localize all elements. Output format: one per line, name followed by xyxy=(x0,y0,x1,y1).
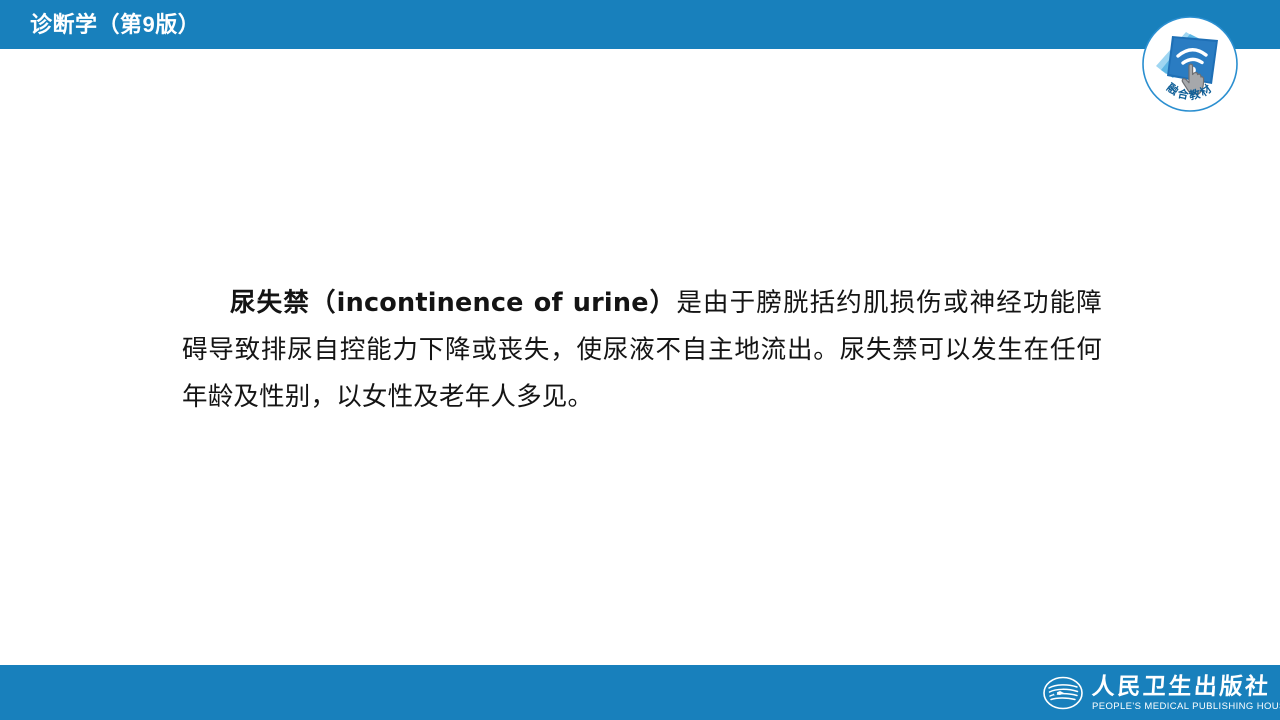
publisher-name-cn: 人民卫生出版社 xyxy=(1091,675,1280,698)
definition-paragraph: 尿失禁（incontinence of urine）是由于膀胱括约肌损伤或神经功… xyxy=(182,280,1102,421)
publisher-name-en: PEOPLE'S MEDICAL PUBLISHING HOUSE xyxy=(1092,702,1280,712)
page-title: 诊断学（第9版） xyxy=(30,11,200,39)
term-incontinence-of-urine: 尿失禁（incontinence of urine） xyxy=(230,288,676,318)
pmph-oval-emblem-icon xyxy=(1042,672,1084,714)
publisher-logo: 人民卫生出版社 PEOPLE'S MEDICAL PUBLISHING HOUS… xyxy=(1042,671,1280,715)
header-bar: 诊断学（第9版） xyxy=(0,0,1280,49)
slide-canvas: 诊断学（第9版） xyxy=(0,0,1280,720)
fusion-textbook-badge: 融合教材 xyxy=(1140,14,1240,114)
slide-body: 尿失禁（incontinence of urine）是由于膀胱括约肌损伤或神经功… xyxy=(182,254,1102,446)
